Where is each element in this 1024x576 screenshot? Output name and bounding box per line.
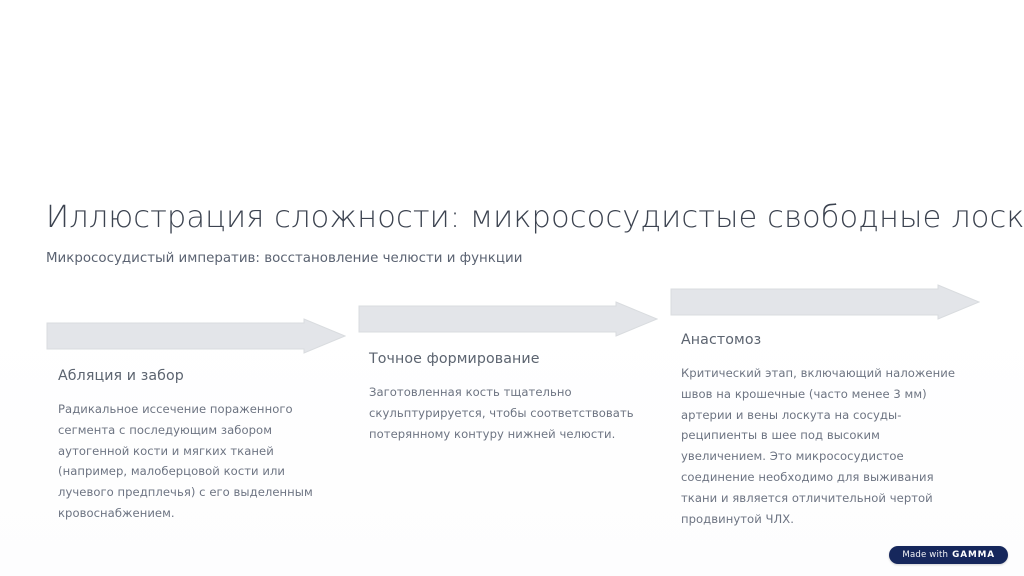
made-with-gamma-badge[interactable]: Made with GAMMA <box>889 546 1008 564</box>
page-subtitle: Микрососудистый императив: восстановлени… <box>46 249 522 269</box>
step-3-body: Критический этап, включающий наложение ш… <box>681 363 965 529</box>
badge-made-with-label: Made with <box>902 550 948 560</box>
step-3-heading: Анастомоз <box>681 330 965 350</box>
arrow-step-1 <box>46 318 346 354</box>
step-1-body: Радикальное иссечение пораженного сегмен… <box>58 399 326 524</box>
step-column-3: Анастомоз Критический этап, включающий н… <box>681 330 965 529</box>
step-1-heading: Абляция и забор <box>58 366 326 386</box>
step-column-1: Абляция и забор Радикальное иссечение по… <box>58 366 326 524</box>
slide-canvas: Иллюстрация сложности: микрососудистые с… <box>0 0 1024 576</box>
step-column-2: Точное формирование Заготовленная кость … <box>369 349 641 444</box>
arrow-step-2 <box>358 301 658 337</box>
badge-brand-label: GAMMA <box>952 550 995 560</box>
page-title: Иллюстрация сложности: микрососудистые с… <box>46 198 1024 238</box>
step-2-body: Заготовленная кость тщательно скульптури… <box>369 382 641 444</box>
arrow-step-3 <box>670 284 980 320</box>
step-2-heading: Точное формирование <box>369 349 641 369</box>
